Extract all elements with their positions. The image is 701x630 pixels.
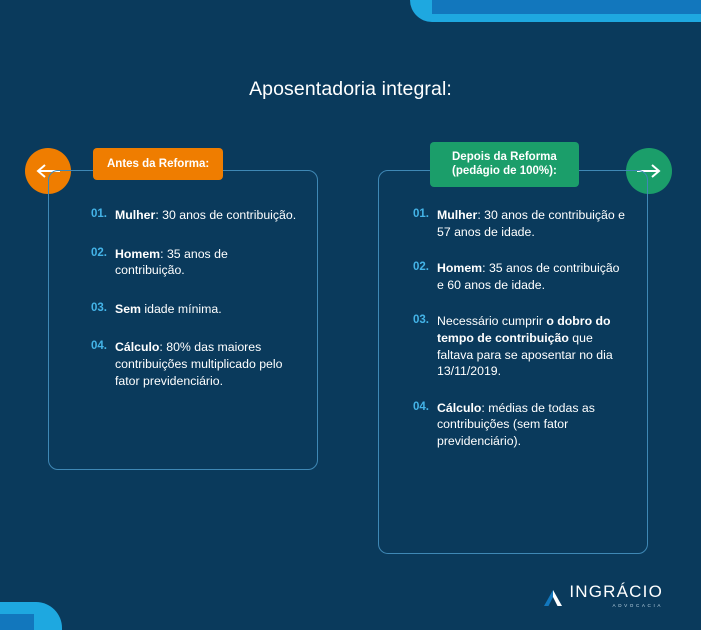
list-item: 03.Necessário cumprir o dobro do tempo d… [413, 313, 627, 379]
before-reform-list: 01.Mulher: 30 anos de contribuição.02.Ho… [69, 205, 297, 389]
list-item-text: Homem: 35 anos de contribuição. [115, 246, 297, 279]
list-item-text: Mulher: 30 anos de contribuição. [115, 207, 296, 224]
after-reform-header-line2: (pedágio de 100%): [452, 164, 557, 178]
before-reform-header-label: Antes da Reforma: [107, 158, 209, 170]
before-reform-column: Antes da Reforma: 01.Mulher: 30 anos de … [48, 170, 318, 470]
list-item: 03.Sem idade mínima. [91, 301, 297, 318]
list-item-number: 02. [413, 260, 437, 293]
list-item-number: 03. [413, 313, 437, 379]
page-title: Aposentadoria integral: [0, 78, 701, 101]
list-item: 01.Mulher: 30 anos de contribuição. [91, 207, 297, 224]
list-item-text: Cálculo: médias de todas as contribuiçõe… [437, 400, 627, 450]
logo-tagline: ADVOCACIA [569, 603, 663, 608]
list-item-text: Mulher: 30 anos de contribuição e 57 ano… [437, 207, 627, 240]
after-reform-card: Depois da Reforma (pedágio de 100%): 01.… [378, 170, 648, 554]
list-item-text: Cálculo: 80% das maiores contribuições m… [115, 339, 297, 389]
bottom-left-blue-shape [0, 614, 34, 630]
logo-name: INGRÁCIO [569, 583, 663, 600]
list-item-text: Sem idade mínima. [115, 301, 222, 318]
before-reform-header: Antes da Reforma: [93, 148, 223, 180]
list-item: 02.Homem: 35 anos de contribuição. [91, 246, 297, 279]
list-item: 02.Homem: 35 anos de contribuição e 60 a… [413, 260, 627, 293]
list-item-text: Homem: 35 anos de contribuição e 60 anos… [437, 260, 627, 293]
list-item-number: 04. [413, 400, 437, 450]
after-reform-list: 01.Mulher: 30 anos de contribuição e 57 … [399, 205, 627, 450]
list-item: 04.Cálculo: 80% das maiores contribuiçõe… [91, 339, 297, 389]
triangle-logo-icon [543, 588, 563, 608]
after-reform-column: Depois da Reforma (pedágio de 100%): 01.… [378, 170, 648, 554]
list-item-number: 03. [91, 301, 115, 318]
list-item-number: 01. [91, 207, 115, 224]
list-item-text: Necessário cumprir o dobro do tempo de c… [437, 313, 627, 379]
list-item: 01.Mulher: 30 anos de contribuição e 57 … [413, 207, 627, 240]
list-item-number: 04. [91, 339, 115, 389]
logo: INGRÁCIO ADVOCACIA [543, 583, 663, 608]
list-item: 04.Cálculo: médias de todas as contribui… [413, 400, 627, 450]
after-reform-header: Depois da Reforma (pedágio de 100%): [430, 142, 579, 187]
list-item-number: 02. [91, 246, 115, 279]
list-item-number: 01. [413, 207, 437, 240]
before-reform-card: Antes da Reforma: 01.Mulher: 30 anos de … [48, 170, 318, 470]
after-reform-header-line1: Depois da Reforma [452, 150, 557, 164]
top-right-blue-shape [432, 0, 701, 14]
